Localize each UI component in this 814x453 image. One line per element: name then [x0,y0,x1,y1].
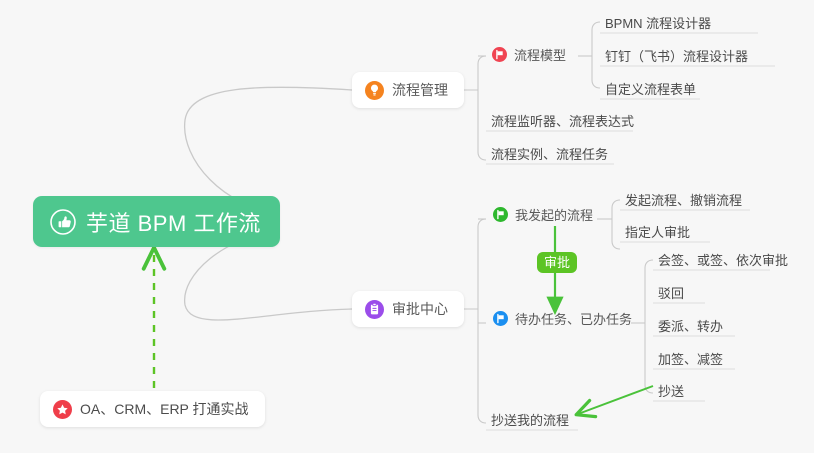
branch-node-process-management[interactable]: 流程管理 [352,72,464,108]
branch-label-oa-crm-erp: OA、CRM、ERP 打通实战 [80,399,249,419]
leaf-process-instance[interactable]: 流程实例、流程任务 [491,144,608,163]
sub-node-process-model[interactable]: 流程模型 [492,45,566,64]
leaf-bpmn-designer[interactable]: BPMN 流程设计器 [605,13,711,32]
leaf-custom-process-form[interactable]: 自定义流程表单 [605,79,696,98]
leaf-cc-my-process[interactable]: 抄送我的流程 [491,410,569,429]
sub-node-todo-done-tasks[interactable]: 待办任务、已办任务 [493,309,632,328]
leaf-process-listener[interactable]: 流程监听器、流程表达式 [491,111,634,130]
root-label: 芋道 BPM 工作流 [86,206,261,238]
bracket-process-model [592,22,600,88]
clipboard-icon [365,300,384,319]
branch-label-approval-center: 审批中心 [392,299,448,319]
leaf-reject[interactable]: 驳回 [658,283,684,302]
approval-badge: 审批 [537,252,577,273]
flag-icon [493,207,508,222]
branch-label-process-management: 流程管理 [392,80,448,100]
flag-icon [492,47,507,62]
sub-node-my-submitted-process[interactable]: 我发起的流程 [493,205,593,224]
leaf-dingtalk-designer[interactable]: 钉钉（飞书）流程设计器 [605,46,748,65]
leaf-cc[interactable]: 抄送 [658,381,684,400]
leaf-countersign-approval[interactable]: 会签、或签、依次审批 [658,250,788,269]
lightbulb-icon [365,81,384,100]
leaf-add-remove-sign[interactable]: 加签、减签 [658,349,723,368]
mindmap-canvas: 芋道 BPM 工作流 流程管理 审批中心 [0,0,814,453]
leaf-start-cancel-process[interactable]: 发起流程、撤销流程 [625,190,742,209]
arrow-cc-to-cc-my-process [578,386,653,414]
root-node[interactable]: 芋道 BPM 工作流 [33,196,280,247]
bracket-todo-tasks [645,260,653,393]
leaf-assignee-approval[interactable]: 指定人审批 [625,222,690,241]
bracket-process-management [478,56,486,160]
branch-node-approval-center[interactable]: 审批中心 [352,291,464,327]
star-icon [53,400,72,419]
leaf-delegate-transfer[interactable]: 委派、转办 [658,316,723,335]
sub-label-todo-done-tasks: 待办任务、已办任务 [515,309,632,328]
bracket-approval-center [478,219,486,423]
branch-node-oa-crm-erp[interactable]: OA、CRM、ERP 打通实战 [40,391,265,427]
bracket-my-submitted [612,200,620,249]
sub-label-my-submitted-process: 我发起的流程 [515,205,593,224]
sub-label-process-model: 流程模型 [514,45,566,64]
thumbs-up-icon [50,209,76,235]
flag-icon [493,311,508,326]
connector-root-to-process-management [185,87,352,213]
